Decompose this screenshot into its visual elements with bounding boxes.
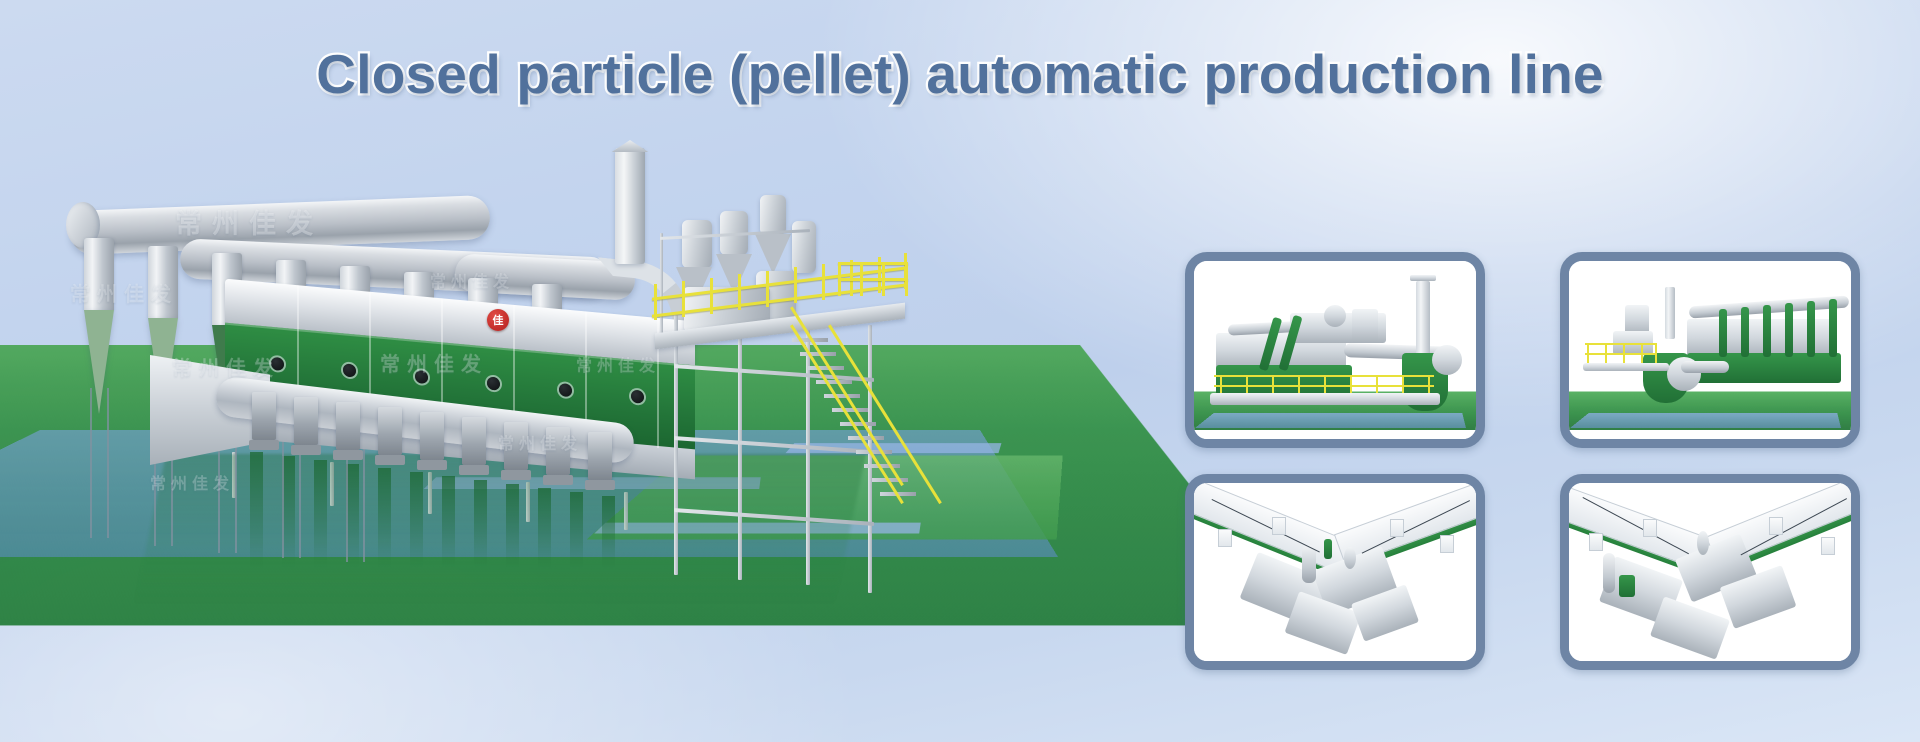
main-production-line-render: 佳 xyxy=(0,0,960,742)
inspection-porthole xyxy=(271,357,284,371)
brand-logo-badge: 佳 xyxy=(487,309,509,331)
drive-motor xyxy=(504,422,528,470)
thumbnail-cleanroom-layout-right[interactable] xyxy=(1560,474,1860,670)
access-staircase xyxy=(790,330,920,520)
reflection-column xyxy=(602,496,615,568)
drive-motor xyxy=(588,432,612,480)
inspection-porthole xyxy=(559,383,572,397)
thumbnail-cleanroom-layout-left[interactable] xyxy=(1185,474,1485,670)
reflection-column xyxy=(314,460,327,568)
thumbnail-line-overview-rear[interactable] xyxy=(1560,252,1860,448)
reflection-column xyxy=(538,488,551,568)
drive-motor xyxy=(462,417,486,465)
process-tank xyxy=(760,195,786,235)
drive-motor xyxy=(336,402,360,450)
tank-discharge-cone xyxy=(755,234,791,274)
drive-motor xyxy=(378,407,402,455)
reflection-column xyxy=(506,484,519,568)
reflection-column xyxy=(570,492,583,568)
stair-handrail xyxy=(790,306,904,486)
inspection-porthole xyxy=(487,376,500,390)
product-banner: 佳 常州佳发 常州佳发 常州佳发 常州佳发 常州佳发 常州佳发 常州佳发 常州佳… xyxy=(0,0,1920,742)
reflection-column xyxy=(474,480,487,568)
exhaust-stack xyxy=(615,148,645,264)
reflection-column xyxy=(378,468,391,568)
cyclone-separator xyxy=(84,238,114,414)
thumbnail-image xyxy=(1194,261,1476,439)
drive-motor xyxy=(546,427,570,475)
reflection-column xyxy=(410,472,423,568)
reflection-column xyxy=(442,476,455,568)
thumbnail-line-overview-front[interactable] xyxy=(1185,252,1485,448)
inspection-porthole xyxy=(631,390,644,404)
process-tank xyxy=(682,220,712,268)
brand-logo-mark: 佳 xyxy=(493,315,504,326)
reflection-column xyxy=(250,452,263,570)
inspection-porthole xyxy=(415,370,428,384)
drive-motor xyxy=(294,397,318,445)
drive-motor xyxy=(420,412,444,460)
thumbnail-grid xyxy=(1185,252,1875,597)
thumbnail-image xyxy=(1569,261,1851,439)
exhaust-stack-cap xyxy=(606,140,654,152)
inspection-porthole xyxy=(343,363,356,377)
thumbnail-image xyxy=(1194,483,1476,661)
drive-motor xyxy=(252,392,276,440)
thumbnail-image xyxy=(1569,483,1851,661)
